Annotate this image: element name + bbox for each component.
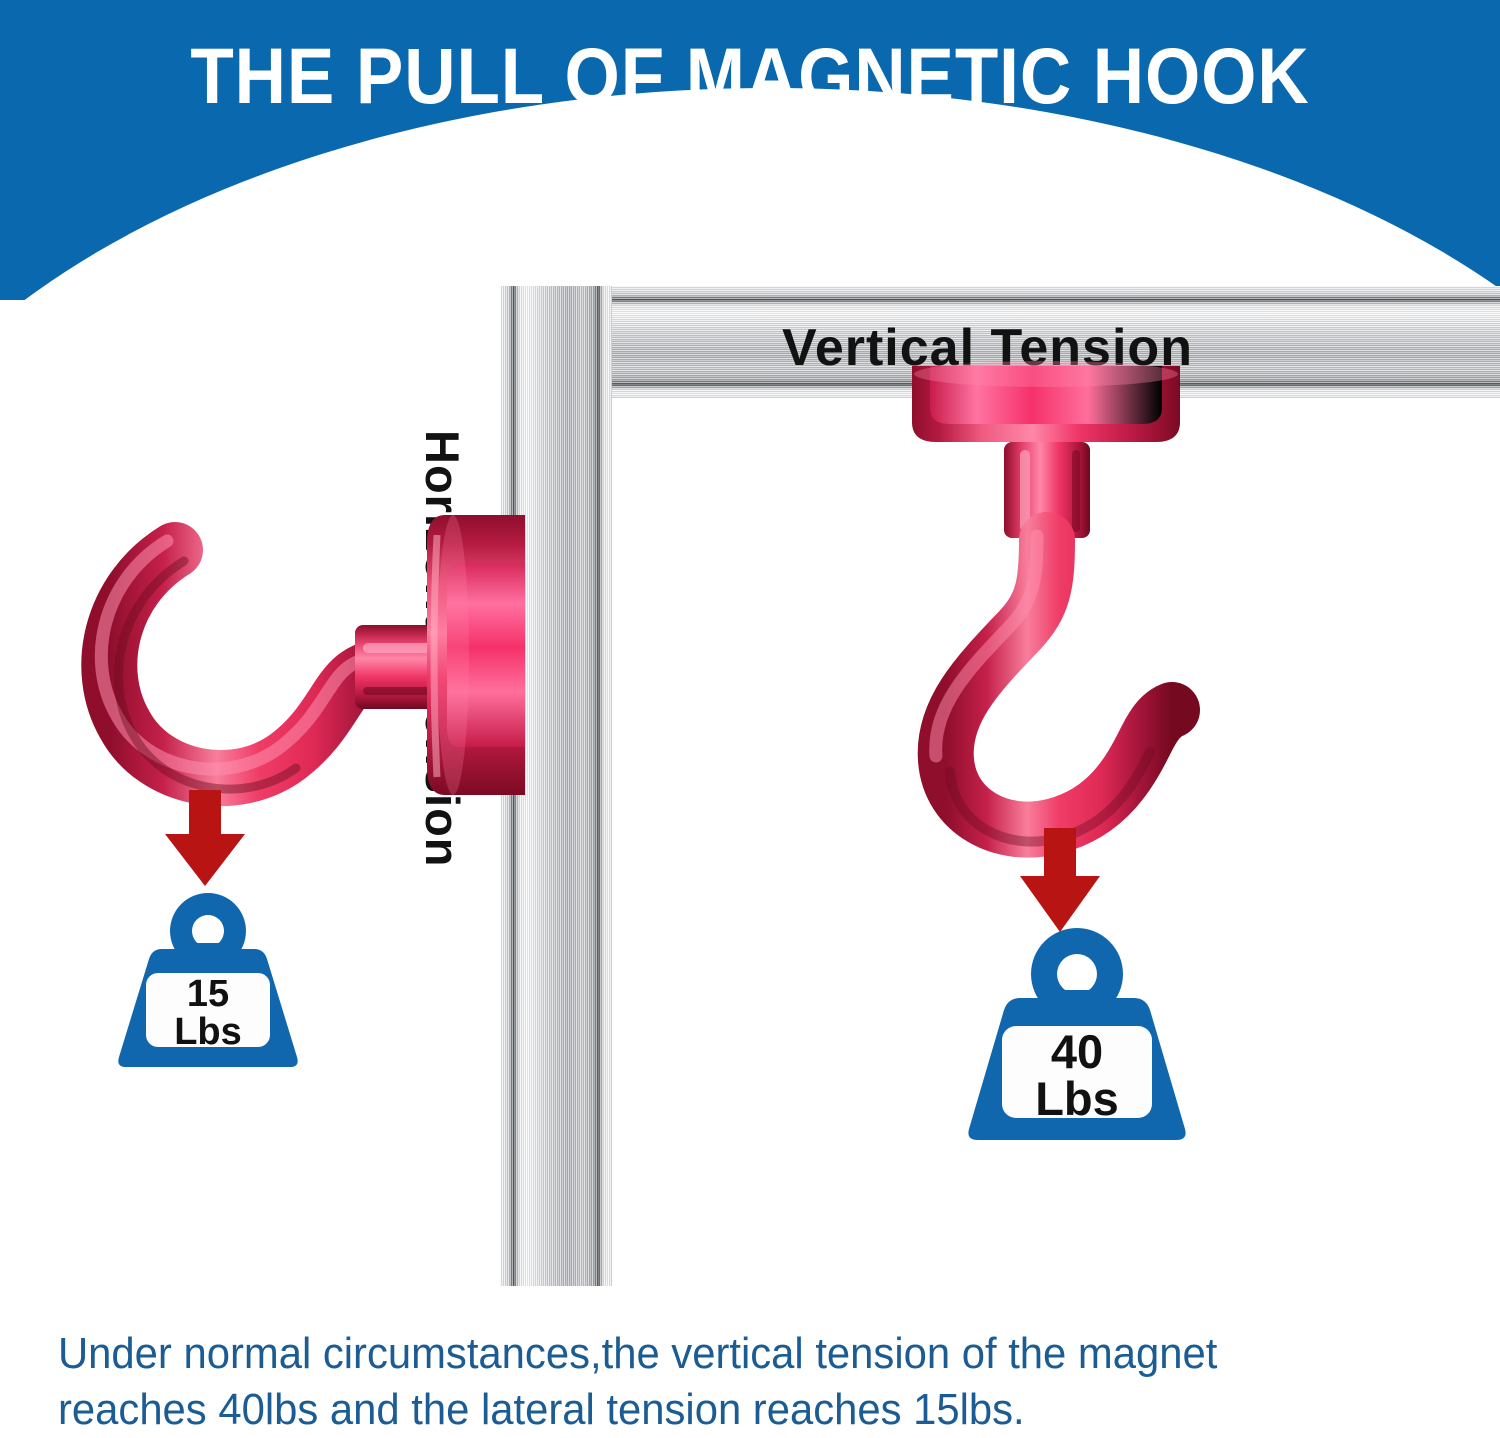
weight-40: 40 Lbs: [950, 918, 1204, 1149]
vertical-mounted-hook: [880, 360, 1220, 860]
weight-15-number: 15: [146, 975, 270, 1013]
weight-15-unit: Lbs: [146, 1013, 270, 1051]
caption-line-1: Under normal circumstances,the vertical …: [58, 1326, 1388, 1382]
force-arrow-left: [155, 790, 255, 890]
weight-40-number: 40: [1002, 1028, 1152, 1075]
page-title: THE PULL OF MAGNETIC HOOK: [75, 30, 1425, 122]
weight-15: 15 Lbs: [100, 885, 316, 1076]
weight-40-unit: Lbs: [1002, 1075, 1152, 1122]
horizontal-mounted-hook: [55, 495, 535, 825]
caption-block: Under normal circumstances,the vertical …: [58, 1326, 1388, 1438]
weight-40-value: 40 Lbs: [1002, 1028, 1152, 1122]
header-banner: THE PULL OF MAGNETIC HOOK: [0, 0, 1500, 300]
weight-15-value: 15 Lbs: [146, 975, 270, 1051]
caption-line-2: reaches 40lbs and the lateral tension re…: [58, 1382, 1388, 1438]
